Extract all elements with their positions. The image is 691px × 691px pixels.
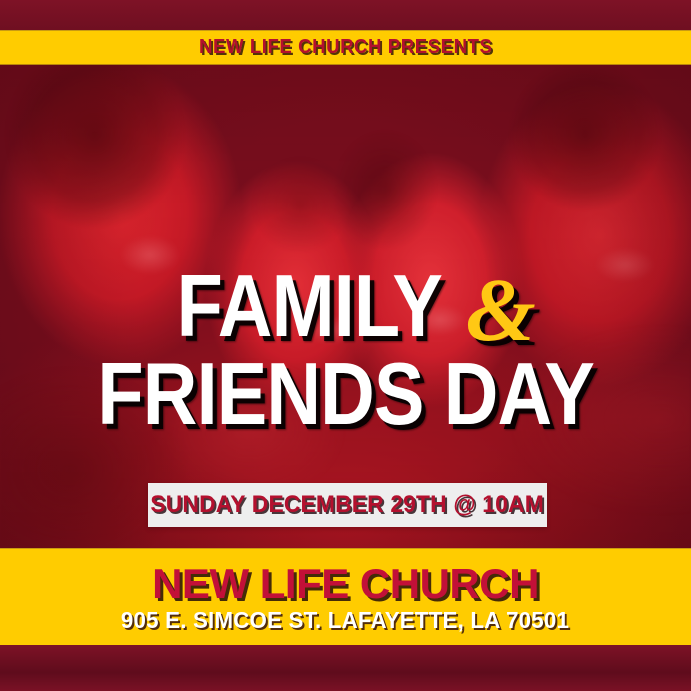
event-date-bar: SUNDAY DECEMBER 29TH @ 10AM [148, 483, 547, 527]
church-name-text: NEW LIFE CHURCH [152, 563, 539, 606]
top-maroon-strip [0, 0, 691, 30]
headline-line-one: FAMILY& [0, 262, 691, 350]
headline-line-two: FRIENDS DAY [0, 350, 691, 438]
flyer-canvas: NEW LIFE CHURCH PRESENTS FAMILY& FRIENDS… [0, 0, 691, 691]
top-yellow-banner: NEW LIFE CHURCH PRESENTS [0, 30, 691, 65]
bottom-maroon-strip [0, 645, 691, 691]
presents-headline: NEW LIFE CHURCH PRESENTS [199, 36, 492, 59]
headline-ampersand: & [466, 267, 536, 355]
event-date-text: SUNDAY DECEMBER 29TH @ 10AM [151, 491, 545, 519]
headline-word-family: FAMILY [177, 262, 442, 350]
main-headline: FAMILY& FRIENDS DAY [0, 262, 691, 438]
headline-word-friends-day: FRIENDS DAY [97, 350, 594, 438]
church-address-text: 905 E. SIMCOE ST. LAFAYETTE, LA 70501 [121, 608, 569, 632]
bottom-yellow-banner: NEW LIFE CHURCH 905 E. SIMCOE ST. LAFAYE… [0, 548, 691, 647]
